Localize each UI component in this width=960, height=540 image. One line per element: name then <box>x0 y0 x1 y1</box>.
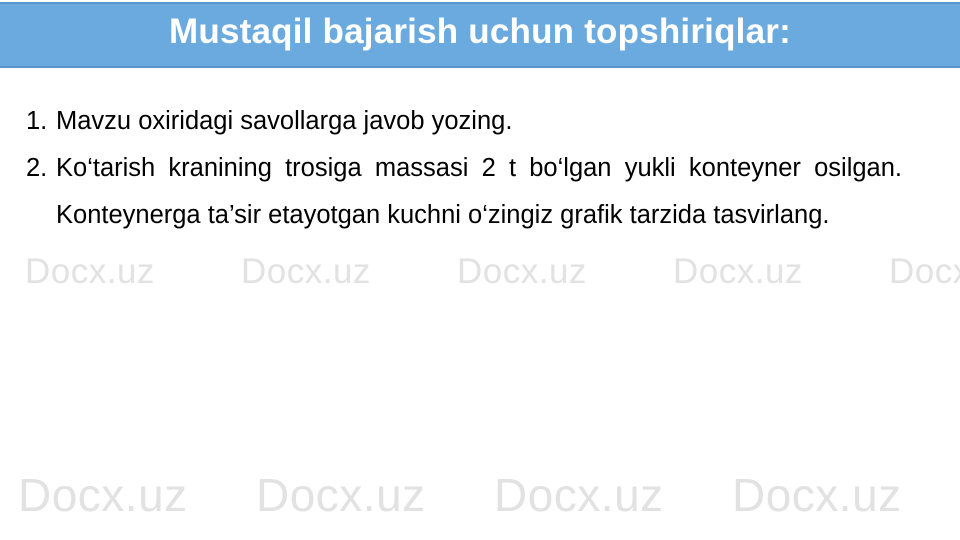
slide-title: Mustaqil bajarish uchun topshiriqlar: <box>169 14 791 57</box>
watermark-text: Docx.uz <box>241 252 457 292</box>
list-item-number: 2. <box>0 145 56 192</box>
watermark-text: Docx.uz <box>494 468 732 522</box>
list-item-text-content: Mavzu oxiridagi savollarga javob yozing. <box>56 107 512 135</box>
watermark-text: Docx.uz <box>889 252 960 292</box>
list-item-text: Mavzu oxiridagi savollarga javob yozing. <box>56 98 960 145</box>
list-item: 1. Mavzu oxiridagi savollarga javob yozi… <box>0 98 960 145</box>
watermark-text: Docx.uz <box>457 252 673 292</box>
list-item-number: 1. <box>0 98 56 145</box>
watermark-layer: Docx.uzDocx.uzDocx.uzDocx.uzDocx.uz Docx… <box>0 0 960 540</box>
task-list: 1. Mavzu oxiridagi savollarga javob yozi… <box>0 98 960 239</box>
watermark-text: Docx.uz <box>256 468 494 522</box>
list-item: 2. Ko‘tarish kranining trosiga massasi 2… <box>0 145 960 239</box>
list-item-text: Ko‘tarish kranining trosiga massasi 2 t … <box>56 145 960 239</box>
watermark-row-bottom: Docx.uzDocx.uzDocx.uzDocx.uzDocx.uz <box>18 468 960 522</box>
slide-title-banner: Mustaqil bajarish uchun topshiriqlar: <box>0 2 960 68</box>
watermark-text: Docx.uz <box>732 468 960 522</box>
watermark-row-middle: Docx.uzDocx.uzDocx.uzDocx.uzDocx.uz <box>25 252 960 292</box>
watermark-text: Docx.uz <box>18 468 256 522</box>
watermark-text: Docx.uz <box>25 252 241 292</box>
watermark-text: Docx.uz <box>673 252 889 292</box>
list-item-text-content: Ko‘tarish kranining trosiga massasi 2 t … <box>56 154 902 229</box>
